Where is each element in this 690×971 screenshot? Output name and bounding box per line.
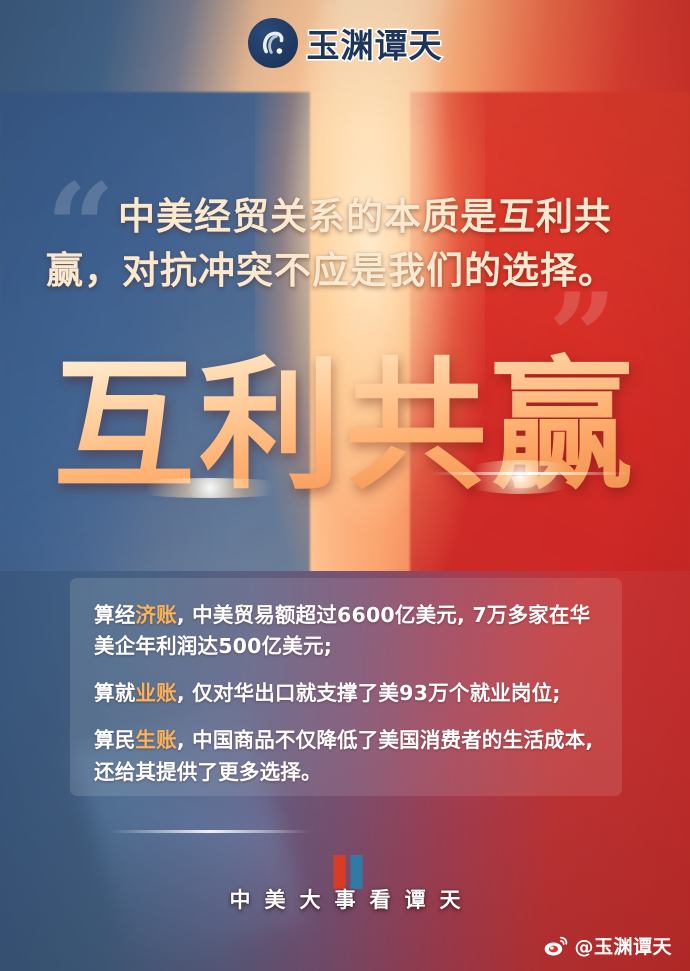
poster-canvas: 玉渊谭天 “ ” 中美经贸关系的本质是互利共赢，对抗冲突不应是我们的选择。 互利… — [0, 0, 690, 971]
fact-highlight-3: 生账 — [135, 728, 176, 752]
footer-tagline-block: 中美大事看谭天 — [0, 855, 690, 925]
fact-paragraph-2: 算就业账, 仅对华出口就支撑了美93万个就业岗位; — [94, 678, 598, 709]
hero-headline: 互利共赢 — [53, 352, 637, 501]
fact-highlight-2: 业账 — [135, 681, 176, 705]
fact-rest-2: , 仅对华出口就支撑了美93万个就业岗位; — [177, 681, 561, 705]
fact-lead-2: 算就 — [94, 681, 135, 705]
quote-text: 中美经贸关系的本质是互利共赢，对抗冲突不应是我们的选择。 — [46, 190, 646, 297]
yuyuan-tantian-wave-logo-icon — [248, 18, 298, 68]
fact-paragraph-1: 算经济账, 中美贸易额超过6600亿美元, 7万多家在华美企年利润达500亿美元… — [94, 600, 598, 662]
weibo-handle: @玉渊谭天 — [574, 932, 672, 959]
hero-headline-block: 互利共赢 — [0, 352, 690, 501]
brand-name: 玉渊谭天 — [307, 19, 443, 67]
brand-header: 玉渊谭天 — [0, 18, 690, 68]
facts-panel: 算经济账, 中美贸易额超过6600亿美元, 7万多家在华美企年利润达500亿美元… — [70, 578, 622, 796]
pull-quote: “ ” 中美经贸关系的本质是互利共赢，对抗冲突不应是我们的选择。 — [0, 168, 690, 358]
weibo-icon — [544, 935, 568, 957]
fact-highlight-1: 济账 — [135, 603, 176, 627]
fact-paragraph-3: 算民生账, 中国商品不仅降低了美国消费者的生活成本, 还给其提供了更多选择。 — [94, 725, 598, 787]
weibo-attribution[interactable]: @玉渊谭天 — [544, 932, 672, 959]
footer-tagline: 中美大事看谭天 — [216, 884, 475, 914]
fact-lead-1: 算经 — [94, 603, 135, 627]
fact-lead-3: 算民 — [94, 728, 135, 752]
